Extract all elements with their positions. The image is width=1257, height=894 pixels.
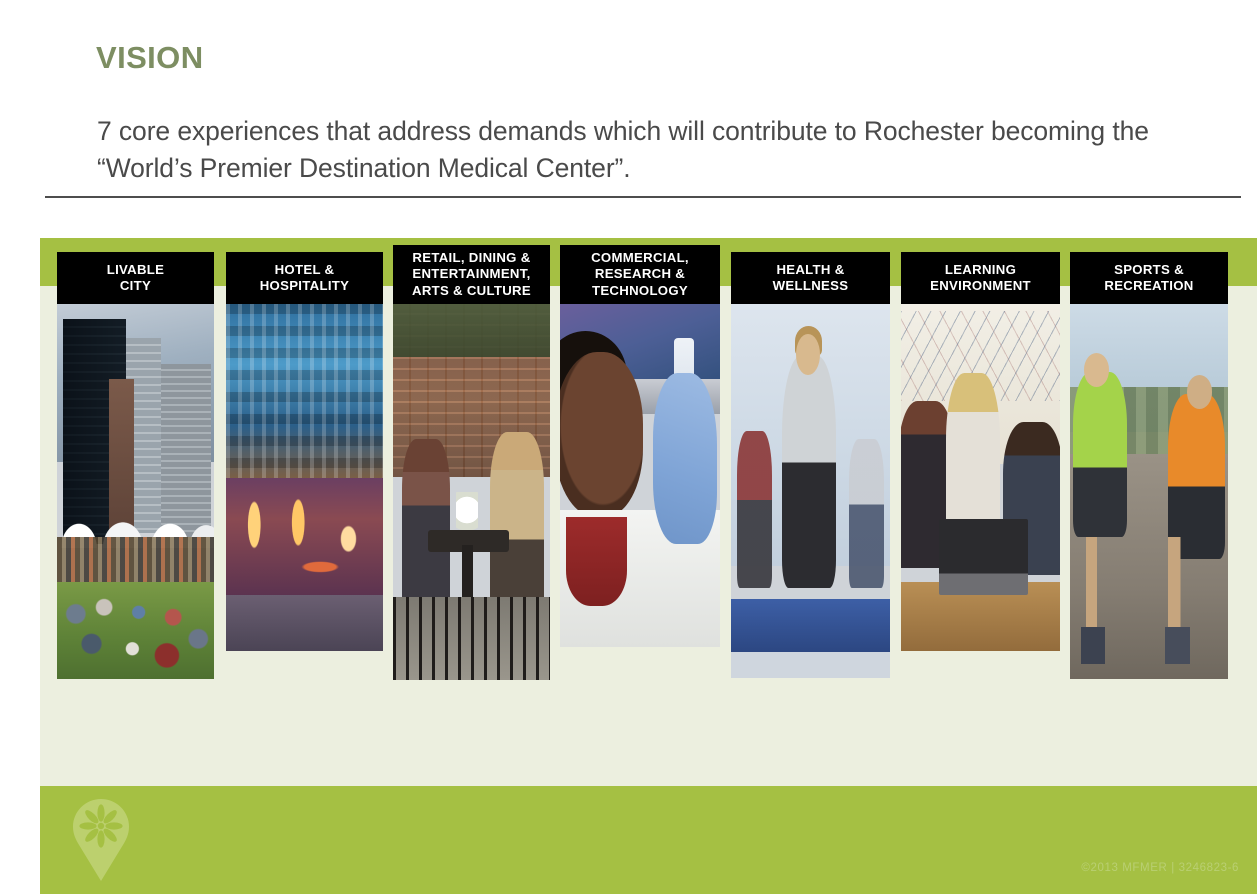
photo-layer [1073, 372, 1127, 537]
experience-column-retail-dining[interactable]: RETAIL, DINING & ENTERTAINMENT, ARTS & C… [393, 238, 550, 680]
photo-layer [560, 352, 643, 517]
photo-layer [653, 373, 717, 545]
column-photo-retail-dining [393, 304, 550, 680]
slide-subtitle: 7 core experiences that address demands … [97, 113, 1237, 187]
column-header-livable-city: LIVABLE CITY [57, 252, 214, 304]
photo-layer [226, 595, 383, 651]
column-photo-livable-city [57, 304, 214, 679]
photo-layer [1070, 537, 1228, 635]
experience-column-hotel-hospitality[interactable]: HOTEL & HOSPITALITY [226, 238, 383, 651]
column-header-retail-dining: RETAIL, DINING & ENTERTAINMENT, ARTS & C… [393, 245, 550, 304]
photo-layer [490, 432, 543, 605]
column-header-health-wellness: HEALTH & WELLNESS [731, 252, 890, 304]
page-title: VISION [96, 38, 203, 78]
experience-column-commercial-research[interactable]: COMMERCIAL, RESEARCH & TECHNOLOGY [560, 238, 720, 647]
photo-layer [731, 652, 890, 678]
column-photo-sports-recreation [1070, 304, 1228, 679]
column-photo-hotel-hospitality [226, 304, 383, 651]
footer-bar: ©2013 MFMER | 3246823-6 [40, 786, 1257, 894]
column-header-hotel-hospitality: HOTEL & HOSPITALITY [226, 252, 383, 304]
photo-layer [566, 517, 627, 606]
photo-layer [1084, 353, 1109, 387]
photo-layer [226, 304, 383, 478]
photo-layer [796, 334, 820, 375]
experience-column-livable-city[interactable]: LIVABLE CITY [57, 238, 214, 679]
experience-column-learning-environment[interactable]: LEARNING ENVIRONMENT [901, 238, 1060, 651]
column-photo-commercial-research [560, 304, 720, 647]
copyright-text: ©2013 MFMER | 3246823-6 [1081, 862, 1239, 874]
mayo-clinic-pin-logo-icon [70, 798, 132, 882]
column-header-sports-recreation: SPORTS & RECREATION [1070, 252, 1228, 304]
title-divider [45, 196, 1241, 198]
experience-column-health-wellness[interactable]: HEALTH & WELLNESS [731, 238, 890, 678]
photo-layer [731, 599, 890, 651]
experience-columns: LIVABLE CITYHOTEL & HOSPITALITYRETAIL, D… [40, 238, 1257, 786]
photo-layer [393, 304, 550, 357]
photo-layer [939, 519, 1028, 595]
photo-layer [782, 356, 836, 588]
photo-layer [1187, 375, 1212, 409]
photo-layer [402, 439, 449, 604]
photo-layer [1168, 394, 1225, 559]
column-photo-health-wellness [731, 304, 890, 678]
photo-layer [57, 589, 214, 672]
experience-column-sports-recreation[interactable]: SPORTS & RECREATION [1070, 238, 1228, 679]
column-header-commercial-research: COMMERCIAL, RESEARCH & TECHNOLOGY [560, 245, 720, 304]
photo-layer [393, 597, 550, 680]
photo-layer [849, 439, 884, 589]
content-stage: LIVABLE CITYHOTEL & HOSPITALITYRETAIL, D… [40, 238, 1257, 894]
photo-layer [1070, 627, 1228, 665]
column-photo-learning-environment [901, 304, 1060, 651]
column-header-learning-environment: LEARNING ENVIRONMENT [901, 252, 1060, 304]
photo-layer [226, 478, 383, 596]
photo-layer [737, 431, 772, 588]
